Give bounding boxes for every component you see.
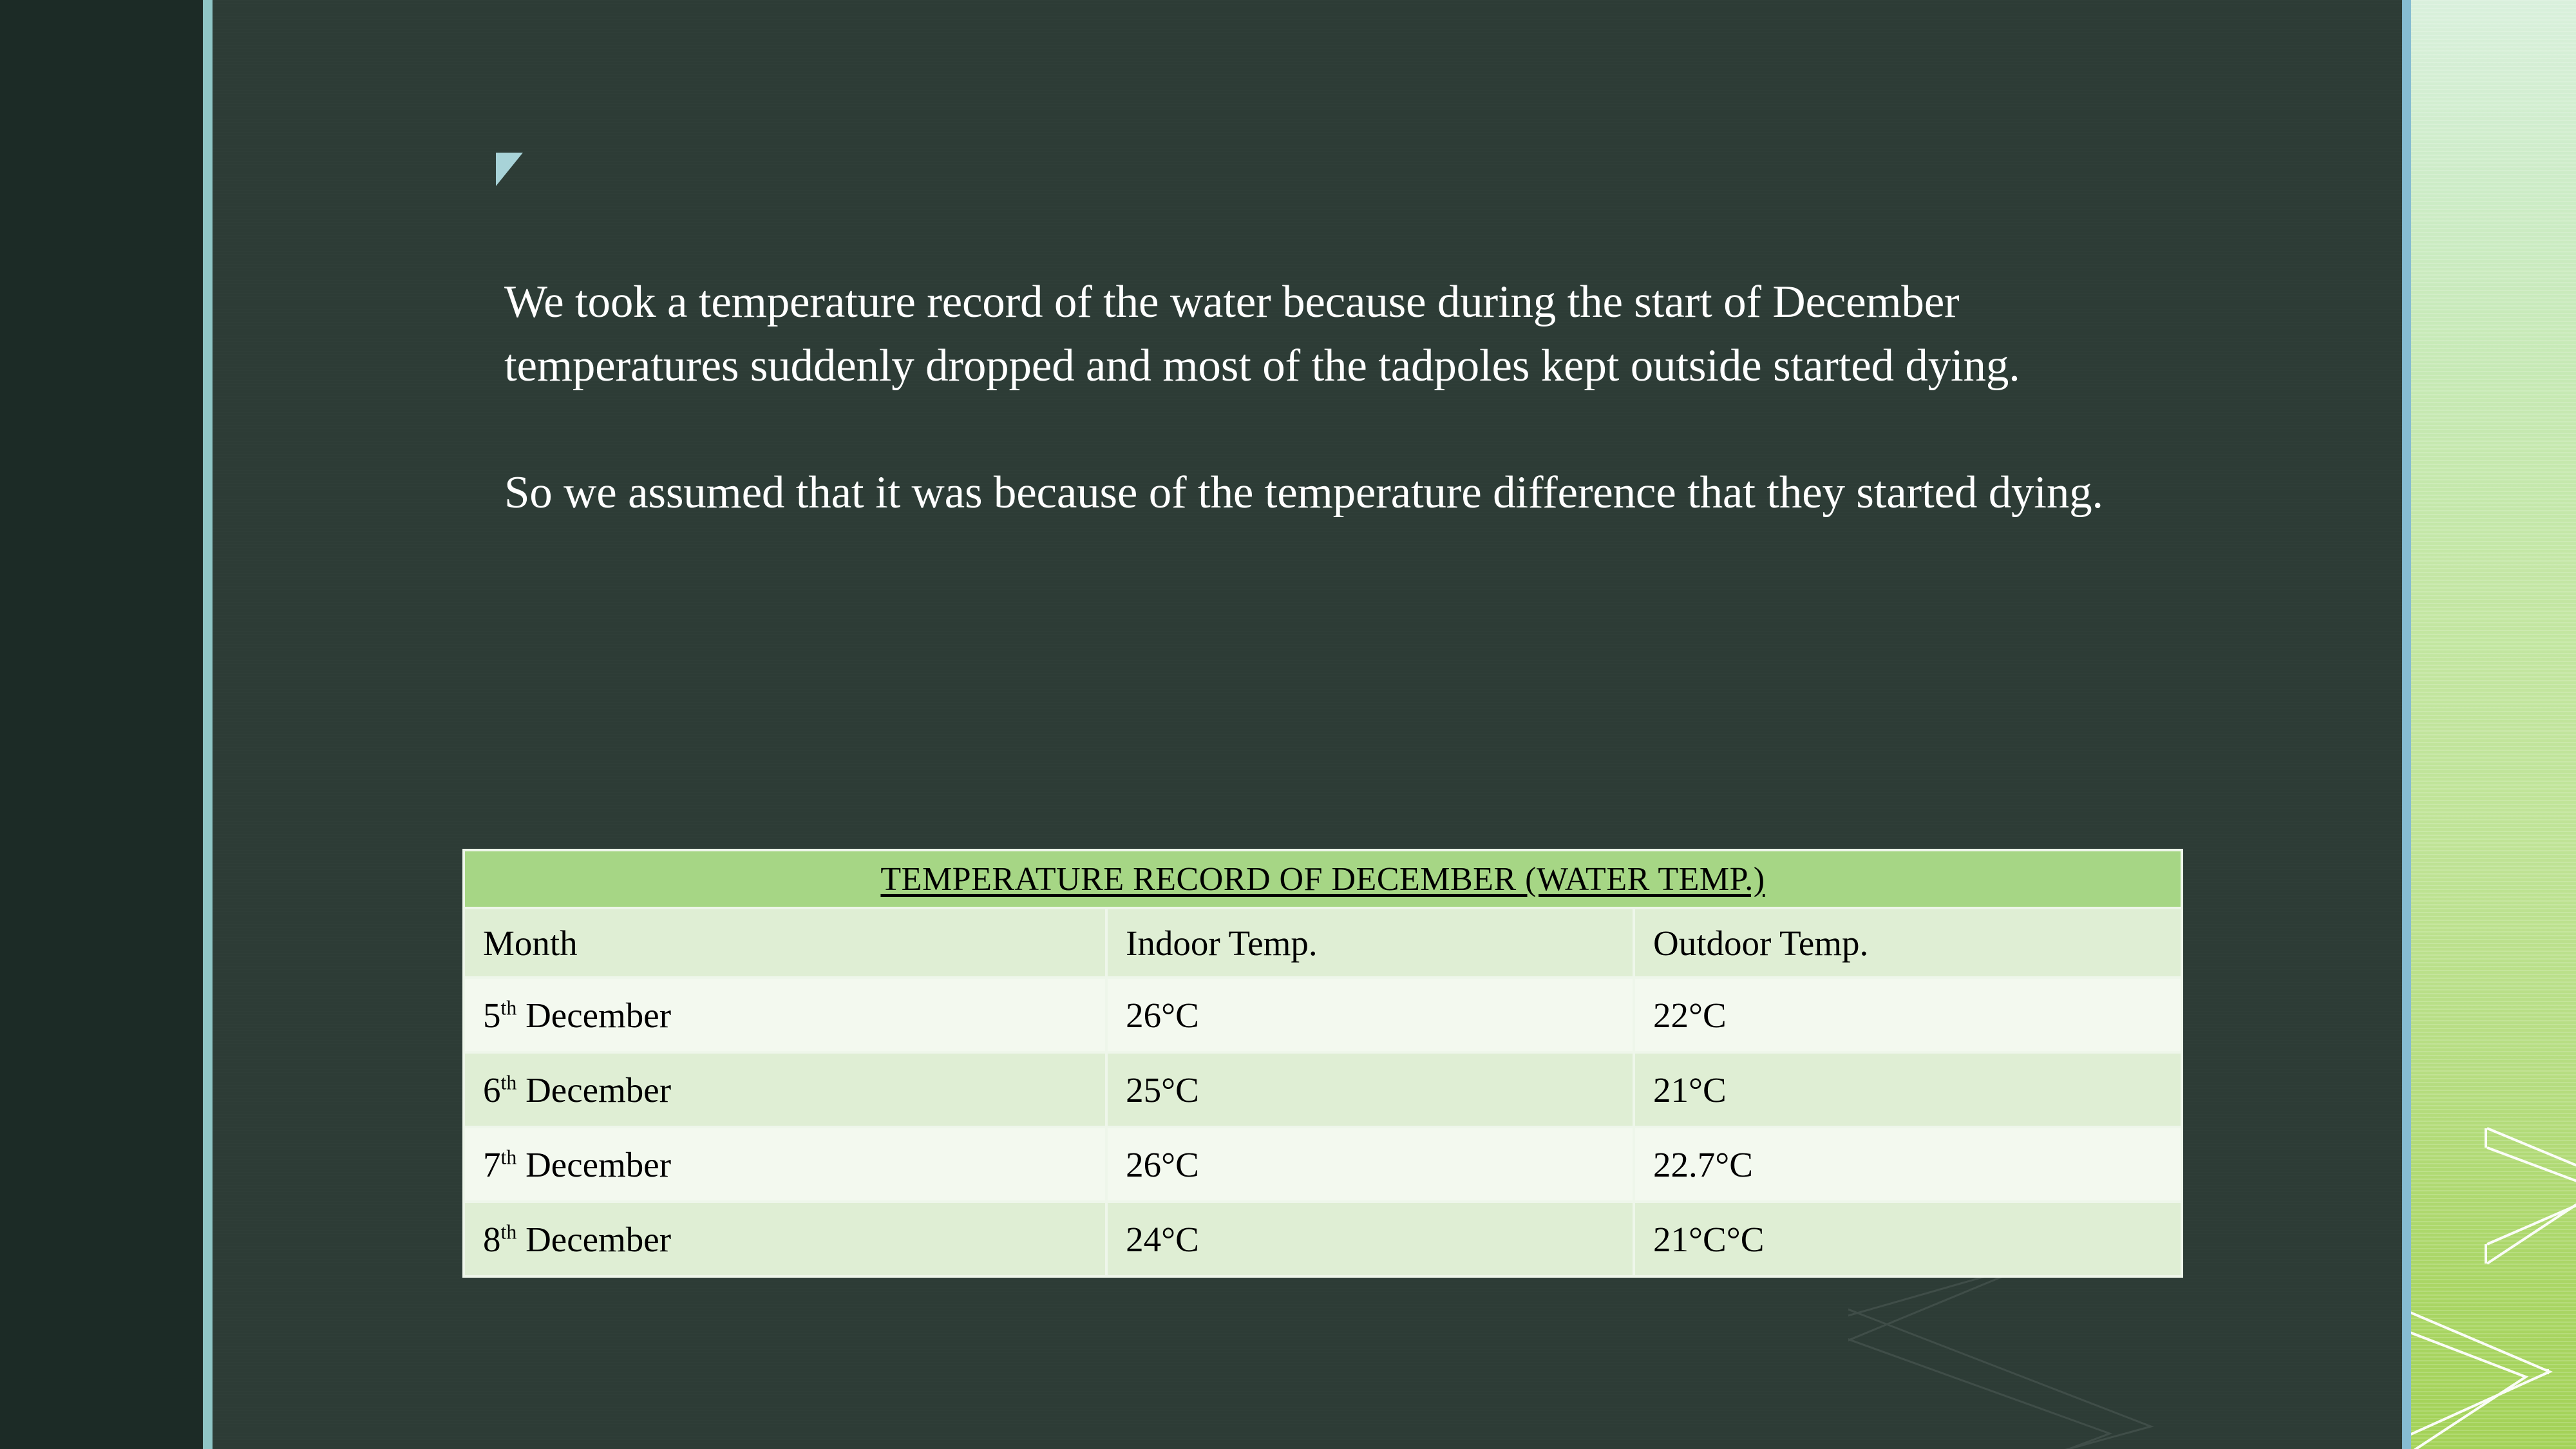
- cell-month: 7th December: [465, 1128, 1105, 1200]
- cell-outdoor-temp: 21°C: [1635, 1054, 2181, 1126]
- left-dark-strip: [0, 0, 203, 1449]
- cell-outdoor-temp: 22°C: [1635, 979, 2181, 1051]
- triangle-bullet-icon: [496, 153, 523, 186]
- cell-indoor-temp: 24°C: [1108, 1203, 1633, 1275]
- column-header-indoor: Indoor Temp.: [1108, 909, 1633, 976]
- paragraph-1: We took a temperature record of the wate…: [504, 270, 2179, 398]
- table-row: 6th December25°C21°C: [465, 1054, 2181, 1126]
- ordinal-suffix: th: [501, 1220, 517, 1243]
- ordinal-suffix: th: [501, 1071, 517, 1094]
- table-title-row: TEMPERATURE RECORD OF DECEMBER (WATER TE…: [465, 851, 2181, 907]
- cell-outdoor-temp: 22.7°C: [1635, 1128, 2181, 1200]
- cell-month: 6th December: [465, 1054, 1105, 1126]
- right-gradient-panel: [2411, 0, 2576, 1449]
- cell-indoor-temp: 26°C: [1108, 979, 1633, 1051]
- left-accent-rule: [203, 0, 213, 1449]
- table-title: TEMPERATURE RECORD OF DECEMBER (WATER TE…: [465, 851, 2181, 907]
- panel-chevron-decoration: [2411, 0, 2576, 1449]
- right-accent-rule: [2402, 0, 2411, 1449]
- temperature-record-table: TEMPERATURE RECORD OF DECEMBER (WATER TE…: [462, 849, 2183, 1278]
- body-text-block: We took a temperature record of the wate…: [504, 270, 2179, 525]
- cell-indoor-temp: 25°C: [1108, 1054, 1633, 1126]
- cell-month: 5th December: [465, 979, 1105, 1051]
- column-header-outdoor: Outdoor Temp.: [1635, 909, 2181, 976]
- table-body: 5th December26°C22°C6th December25°C21°C…: [465, 979, 2181, 1275]
- table-row: 8th December24°C21°C°C: [465, 1203, 2181, 1275]
- cell-outdoor-temp: 21°C°C: [1635, 1203, 2181, 1275]
- cell-month: 8th December: [465, 1203, 1105, 1275]
- cell-indoor-temp: 26°C: [1108, 1128, 1633, 1200]
- ordinal-suffix: th: [501, 996, 517, 1019]
- ordinal-suffix: th: [501, 1146, 517, 1168]
- table-row: 7th December26°C22.7°C: [465, 1128, 2181, 1200]
- table-header-row: Month Indoor Temp. Outdoor Temp.: [465, 909, 2181, 976]
- table-row: 5th December26°C22°C: [465, 979, 2181, 1051]
- slide: We took a temperature record of the wate…: [0, 0, 2576, 1449]
- column-header-month: Month: [465, 909, 1105, 976]
- paragraph-2: So we assumed that it was because of the…: [504, 461, 2179, 525]
